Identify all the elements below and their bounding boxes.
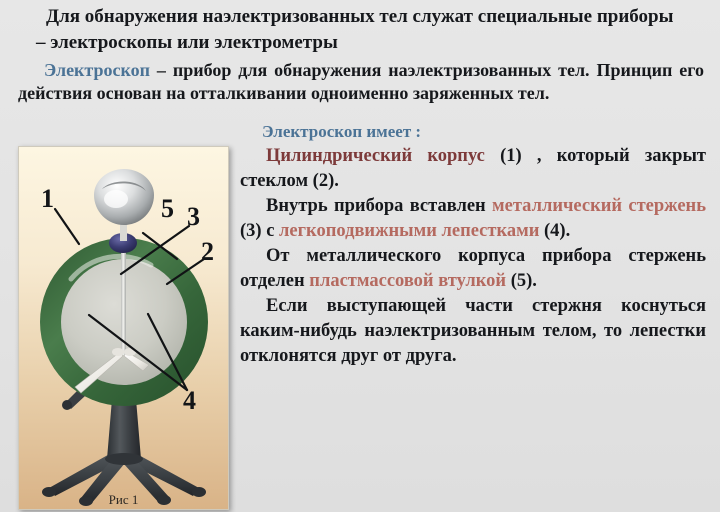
intro-text-block: Для обнаружения наэлектризованных тел сл…	[18, 4, 704, 105]
slide-canvas: Для обнаружения наэлектризованных тел сл…	[0, 0, 720, 512]
callout-number-1: 1	[41, 184, 54, 213]
leaf-left-hinge	[112, 348, 124, 356]
electroscope-diagram: 1 2 3 4 5	[19, 147, 228, 509]
description-p2-pre: Внутрь прибора вставлен	[266, 196, 492, 216]
description-text-block: Электроскоп имеет : Цилиндрический корпу…	[240, 122, 706, 369]
kw-metal-rod: металлический стержень	[492, 196, 706, 216]
kw-cylindrical-body: Цилиндрический корпус	[266, 146, 485, 166]
electroscope-figure-card: 1 2 3 4 5 Рис 1	[18, 146, 229, 510]
kw-movable-leaves: легкоподвижными лепестками	[279, 221, 539, 241]
description-paragraph-2: Внутрь прибора вставлен металлический ст…	[240, 194, 706, 244]
description-p2-post: (4).	[539, 221, 570, 241]
side-terminal-tip	[62, 400, 72, 410]
leader-line-1	[55, 209, 79, 244]
figure-caption: Рис 1	[19, 492, 228, 508]
intro-line-2: – электроскопы или электрометры	[18, 30, 704, 55]
term-electroscope: Электроскоп	[44, 60, 150, 80]
description-paragraph-3: От металлического корпуса прибора стерже…	[240, 244, 706, 294]
metal-rod	[121, 245, 126, 355]
stand-hub	[105, 453, 143, 465]
intro-definition: Электроскоп – прибор для обнаружения наэ…	[18, 59, 704, 105]
description-paragraph-4: Если выступающей части стержня коснуться…	[240, 294, 706, 369]
description-p3-post: (5).	[506, 271, 537, 291]
callout-number-4: 4	[183, 386, 196, 415]
callout-number-3: 3	[187, 202, 200, 231]
intro-line-1: Для обнаружения наэлектризованных тел сл…	[18, 4, 704, 29]
description-paragraph-1: Цилиндрический корпус (1) , который закр…	[240, 144, 706, 194]
sphere-highlight	[104, 190, 128, 208]
callout-number-5: 5	[161, 194, 174, 223]
description-lead: Электроскоп имеет :	[240, 122, 706, 142]
callout-number-2: 2	[201, 237, 214, 266]
kw-plastic-bushing: пластмассовой втулкой	[309, 271, 506, 291]
description-p2-mid: (3) с	[240, 221, 279, 241]
